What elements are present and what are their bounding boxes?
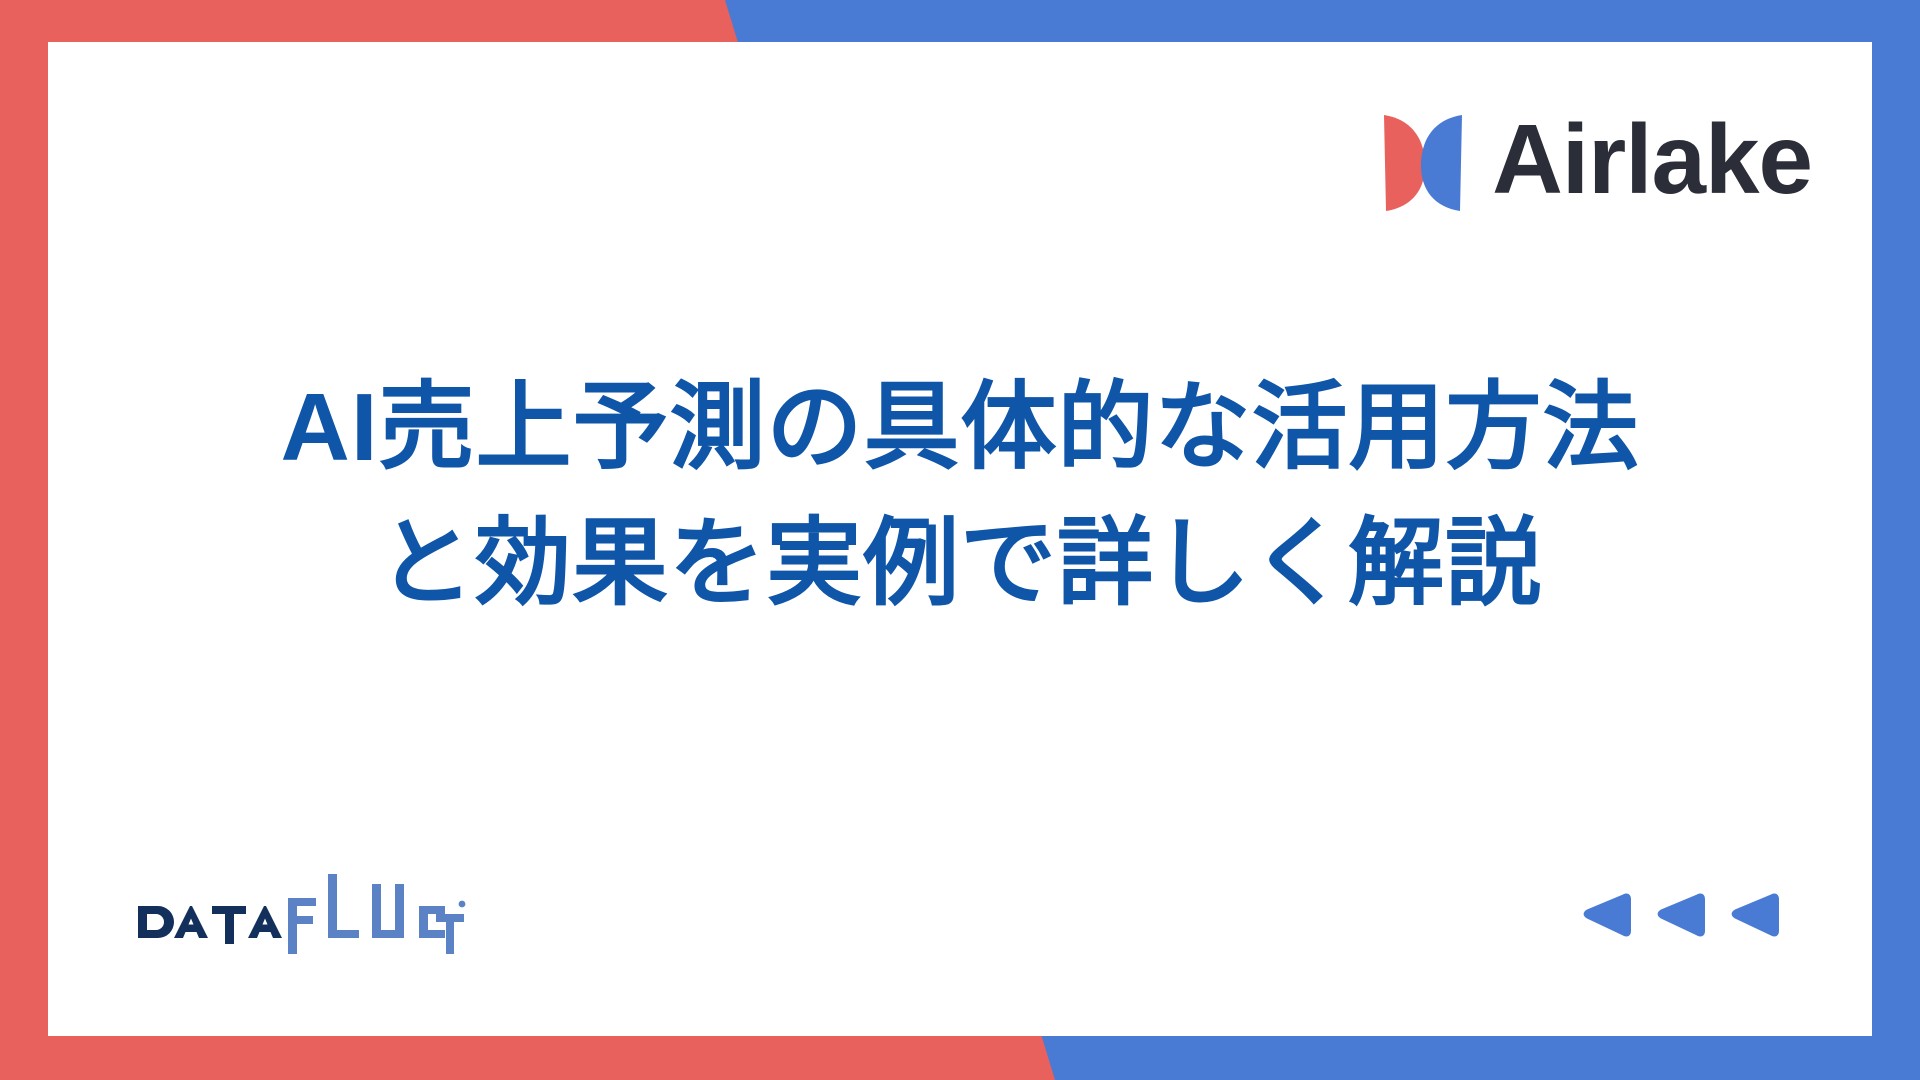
datafluct-logo — [136, 862, 466, 954]
title-line-2: と効果を実例で詳しく解説 — [118, 496, 1802, 632]
arrow-group — [1574, 886, 1780, 944]
triangle-left-icon[interactable] — [1648, 886, 1706, 944]
page-title: AI売上予測の具体的な活用方法 と効果を実例で詳しく解説 — [48, 360, 1872, 633]
airlake-wordmark: Airlake — [1492, 110, 1812, 208]
content-card: Airlake AI売上予測の具体的な活用方法 と効果を実例で詳しく解説 — [48, 42, 1872, 1036]
datafluct-fluct-part — [288, 874, 465, 954]
airlake-logo: Airlake — [1380, 104, 1812, 222]
airlake-mark-icon — [1380, 111, 1466, 215]
triangle-left-icon[interactable] — [1722, 886, 1780, 944]
title-line-1: AI売上予測の具体的な活用方法 — [118, 360, 1802, 496]
slide-canvas: Airlake AI売上予測の具体的な活用方法 と効果を実例で詳しく解説 — [0, 0, 1920, 1080]
triangle-left-icon[interactable] — [1574, 886, 1632, 944]
datafluct-data-part — [138, 906, 282, 944]
